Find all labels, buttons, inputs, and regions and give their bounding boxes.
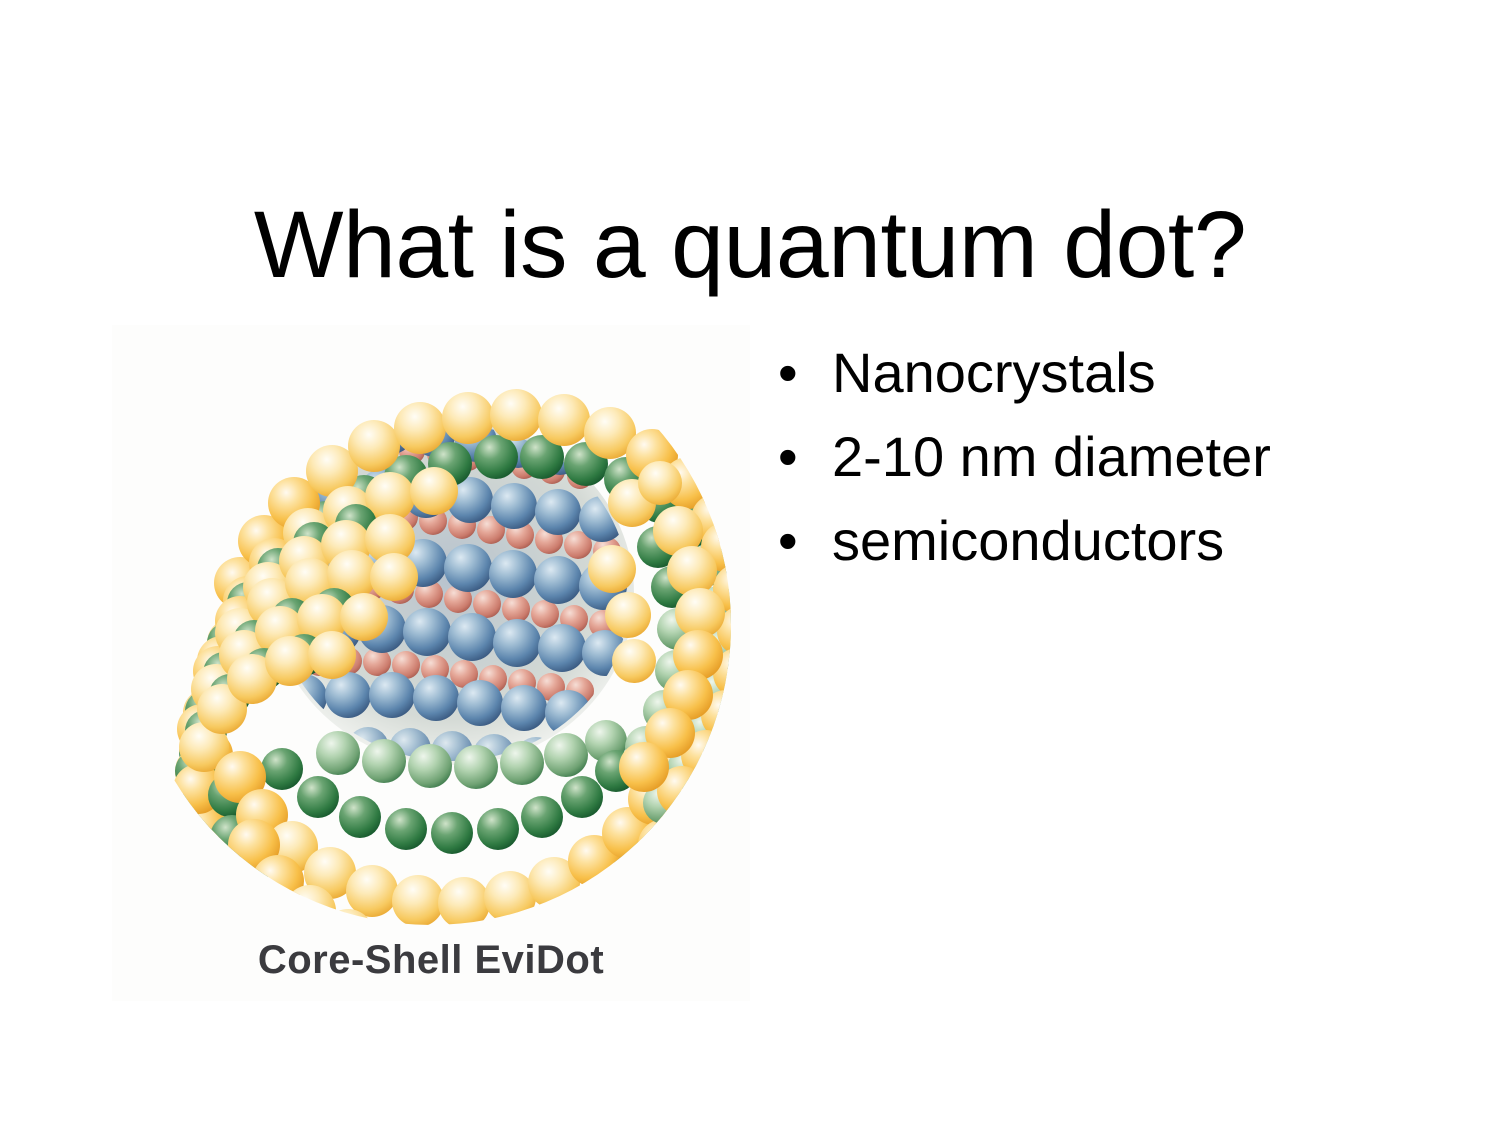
bullet-label: Nanocrystals [832, 331, 1156, 415]
bullet-marker-icon: • [775, 415, 832, 499]
quantum-dot-figure: Core-Shell EviDot [112, 325, 750, 1001]
bullet-marker-icon: • [775, 499, 832, 583]
bullet-item-semiconductors: • semiconductors [775, 499, 1395, 583]
bullet-label: semiconductors [832, 499, 1224, 583]
bullet-list: • Nanocrystals • 2-10 nm diameter • semi… [775, 331, 1395, 583]
bullet-label: 2-10 nm diameter [832, 415, 1271, 499]
bullet-item-diameter: • 2-10 nm diameter [775, 415, 1395, 499]
slide-canvas: What is a quantum dot? [0, 0, 1500, 1125]
page-title: What is a quantum dot? [0, 198, 1500, 293]
quantum-dot-illustration [112, 325, 750, 933]
bullet-item-nanocrystals: • Nanocrystals [775, 331, 1395, 415]
bullet-marker-icon: • [775, 331, 832, 415]
figure-caption: Core-Shell EviDot [112, 937, 750, 983]
